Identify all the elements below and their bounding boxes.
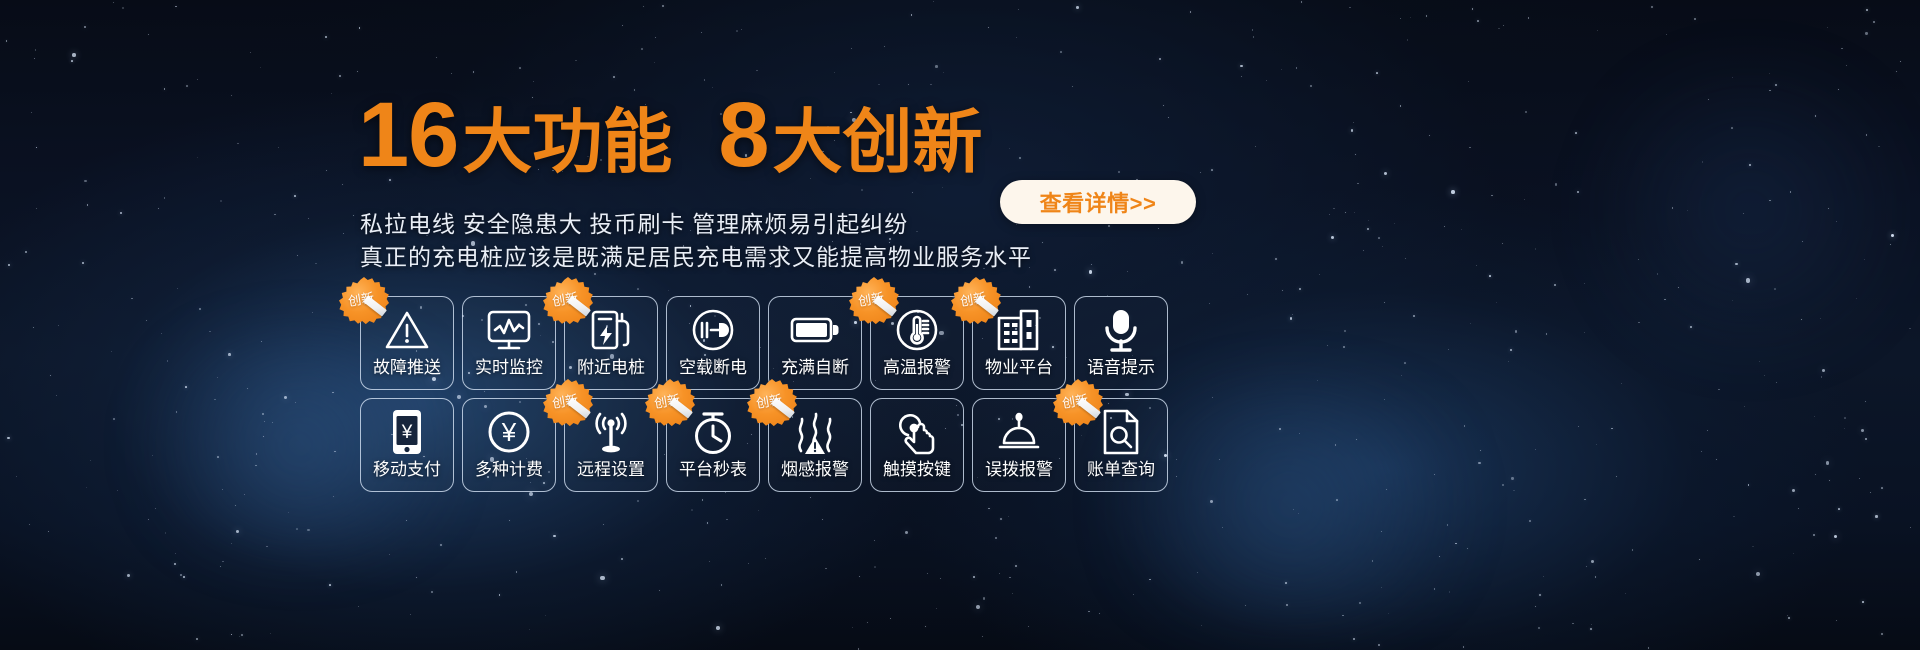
subtitle-line-1: 私拉电线 安全隐患大 投币刷卡 管理麻烦易引起纠纷: [360, 208, 1032, 241]
feature-card-phone-yuan[interactable]: ¥移动支付: [360, 398, 454, 492]
feature-card-touch-hand[interactable]: 触摸按键: [870, 398, 964, 492]
innovation-badge: 创新: [543, 277, 593, 327]
feature-card-label: 附近电桩: [577, 357, 645, 379]
innovation-badge: 创新: [747, 379, 797, 429]
feature-card-plug-circle[interactable]: 空载断电: [666, 296, 760, 390]
feature-card-label: 触摸按键: [883, 459, 951, 481]
feature-card-label: 充满自断: [781, 357, 849, 379]
feature-card-label: 空载断电: [679, 357, 747, 379]
alarm-bell-icon: [973, 407, 1065, 457]
phone-yuan-icon: ¥: [361, 407, 453, 457]
touch-hand-icon: [871, 407, 963, 457]
svg-text:¥: ¥: [401, 422, 413, 443]
headline: 16 大功能 8 大创新: [358, 92, 983, 179]
feature-grid: 创新故障推送实时监控创新附近电桩空载断电充满自断创新高温报警创新物业平台语音提示…: [360, 296, 1168, 492]
feature-card-label: 语音提示: [1087, 357, 1155, 379]
feature-card-alarm-bell[interactable]: 误拨报警: [972, 398, 1066, 492]
feature-card-warning-triangle[interactable]: 创新故障推送: [360, 296, 454, 390]
nebula-glow-top-right: [1560, 60, 1920, 360]
headline-number-functions: 16: [358, 92, 458, 179]
feature-card-stopwatch[interactable]: 创新平台秒表: [666, 398, 760, 492]
innovation-badge: 创新: [339, 277, 389, 327]
feature-card-battery-full[interactable]: 充满自断: [768, 296, 862, 390]
feature-card-monitor-waveform[interactable]: 实时监控: [462, 296, 556, 390]
feature-card-smoke-alarm[interactable]: 创新烟感报警: [768, 398, 862, 492]
subtitle-block: 私拉电线 安全隐患大 投币刷卡 管理麻烦易引起纠纷 真正的充电桩应该是既满足居民…: [360, 208, 1032, 274]
feature-card-label: 烟感报警: [781, 459, 849, 481]
feature-card-label: 误拨报警: [985, 459, 1053, 481]
monitor-waveform-icon: [463, 305, 555, 355]
headline-number-innovations: 8: [718, 92, 768, 179]
feature-card-antenna-signal[interactable]: 创新远程设置: [564, 398, 658, 492]
plug-circle-icon: [667, 305, 759, 355]
feature-card-thermometer-circle[interactable]: 创新高温报警: [870, 296, 964, 390]
feature-card-label: 远程设置: [577, 459, 645, 481]
innovation-badge: 创新: [543, 379, 593, 429]
feature-card-label: 物业平台: [985, 357, 1053, 379]
feature-card-label: 多种计费: [475, 459, 543, 481]
feature-card-buildings[interactable]: 创新物业平台: [972, 296, 1066, 390]
feature-card-document-search[interactable]: 创新账单查询: [1074, 398, 1168, 492]
feature-card-microphone[interactable]: 语音提示: [1074, 296, 1168, 390]
innovation-badge: 创新: [951, 277, 1001, 327]
feature-card-label: 账单查询: [1087, 459, 1155, 481]
feature-card-label: 平台秒表: [679, 459, 747, 481]
subtitle-line-2: 真正的充电桩应该是既满足居民充电需求又能提高物业服务水平: [360, 241, 1032, 274]
innovation-badge: 创新: [849, 277, 899, 327]
feature-card-label: 实时监控: [475, 357, 543, 379]
feature-card-label: 移动支付: [373, 459, 441, 481]
feature-card-label: 高温报警: [883, 357, 951, 379]
feature-card-label: 故障推送: [373, 357, 441, 379]
yuan-circle-icon: ¥: [463, 407, 555, 457]
headline-word-innovations: 大创新: [773, 109, 983, 176]
microphone-icon: [1075, 305, 1167, 355]
headline-word-functions: 大功能: [462, 109, 672, 176]
feature-row-1: 创新故障推送实时监控创新附近电桩空载断电充满自断创新高温报警创新物业平台语音提示: [360, 296, 1168, 390]
battery-full-icon: [769, 305, 861, 355]
feature-card-yuan-circle[interactable]: ¥多种计费: [462, 398, 556, 492]
innovation-badge: 创新: [1053, 379, 1103, 429]
innovation-badge: 创新: [645, 379, 695, 429]
view-details-button[interactable]: 查看详情>>: [1000, 180, 1196, 224]
feature-card-charging-pile[interactable]: 创新附近电桩: [564, 296, 658, 390]
svg-text:¥: ¥: [501, 417, 517, 447]
promo-banner: 16 大功能 8 大创新 私拉电线 安全隐患大 投币刷卡 管理麻烦易引起纠纷 真…: [0, 0, 1920, 650]
feature-row-2: ¥移动支付¥多种计费创新远程设置创新平台秒表创新烟感报警触摸按键误拨报警创新账单…: [360, 398, 1168, 492]
